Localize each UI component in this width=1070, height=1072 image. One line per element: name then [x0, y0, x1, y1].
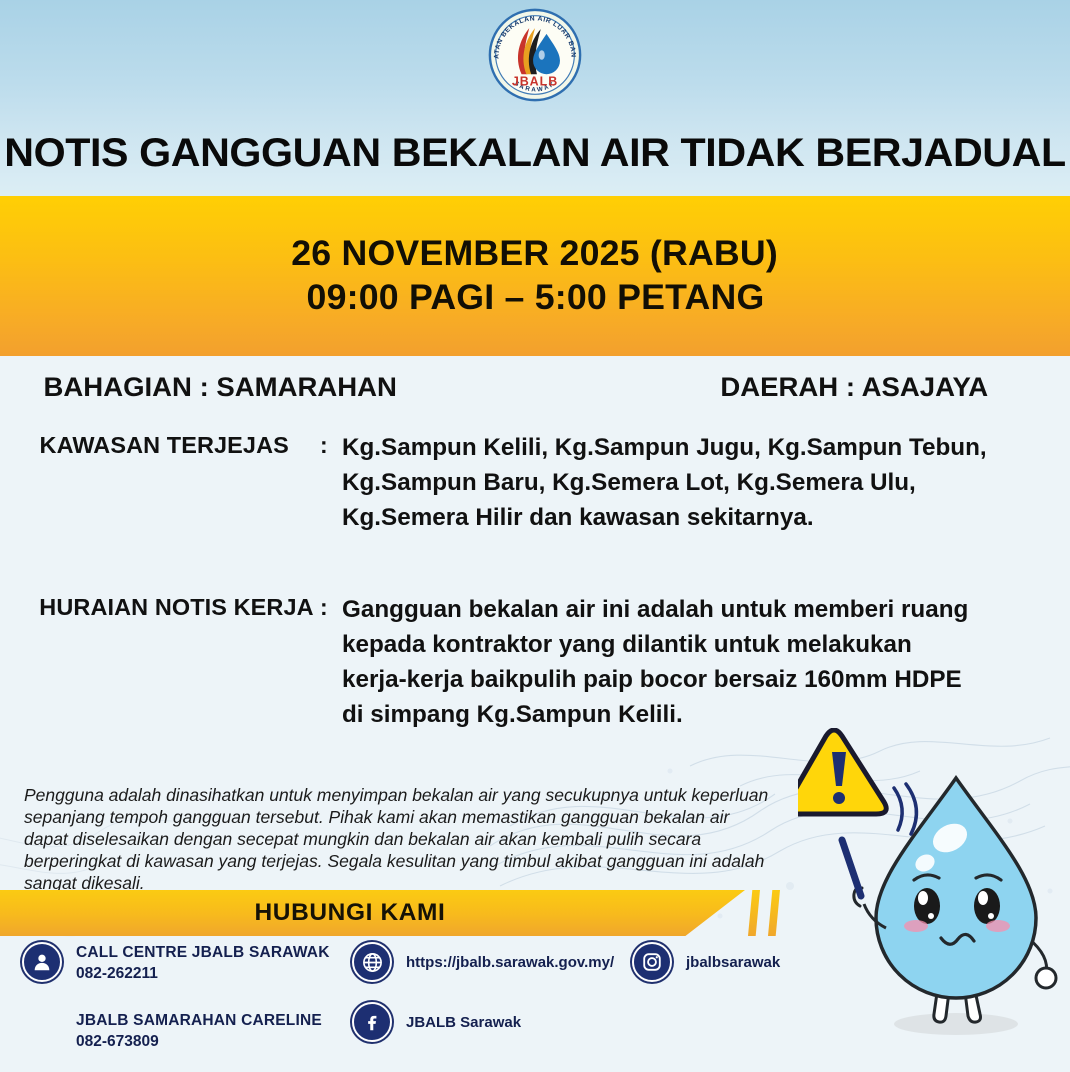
website-url[interactable]: https://jbalb.sarawak.gov.my/	[406, 944, 614, 971]
globe-icon	[352, 942, 392, 982]
page-title: NOTIS GANGGUAN BEKALAN AIR TIDAK BERJADU…	[0, 131, 1070, 176]
banner-slash-decoration	[768, 890, 780, 936]
contact-banner-label: HUBUNGI KAMI	[0, 890, 707, 936]
contact-name: CALL CENTRE JBALB SARAWAK	[76, 944, 330, 962]
instagram-icon	[632, 942, 672, 982]
field-value: Gangguan bekalan air ini adalah untuk me…	[342, 592, 1049, 732]
instagram-handle[interactable]: jbalbsarawak	[686, 944, 780, 971]
contact-careline[interactable]: JBALB SAMARAHAN CARELINE 082-673809	[22, 1010, 322, 1051]
contact-phone[interactable]: 082-262211	[76, 965, 330, 983]
contact-phone[interactable]: 082-673809	[76, 1033, 322, 1051]
field-value: Kg.Sampun Kelili, Kg.Sampun Jugu, Kg.Sam…	[342, 430, 1049, 535]
contact-text: JBALB SAMARAHAN CARELINE 082-673809	[76, 1010, 322, 1051]
jbalb-logo-icon: JABATAN BEKALAN AIR LUAR BANDAR SARAWAK …	[487, 7, 583, 103]
field-line: di simpang Kg.Sampun Kelili.	[342, 697, 1049, 732]
division-label: BAHAGIAN : SAMARAHAN	[44, 372, 397, 403]
contact-instagram[interactable]: jbalbsarawak	[632, 942, 780, 982]
contact-text: https://jbalb.sarawak.gov.my/	[406, 942, 614, 971]
banner-slash-decoration	[748, 890, 760, 936]
contact-banner: HUBUNGI KAMI	[0, 890, 770, 936]
date-time-banner: 26 NOVEMBER 2025 (RABU) 09:00 PAGI – 5:0…	[0, 196, 1070, 356]
facebook-icon	[352, 1002, 392, 1042]
field-colon: :	[320, 432, 328, 459]
facebook-handle[interactable]: JBALB Sarawak	[406, 1004, 521, 1031]
field-line: Kg.Sampun Baru, Kg.Semera Lot, Kg.Semera…	[342, 465, 1049, 500]
notice-date: 26 NOVEMBER 2025 (RABU)	[292, 234, 779, 274]
field-line: kepada kontraktor yang dilantik untuk me…	[342, 627, 1049, 662]
field-label: KAWASAN TERJEJAS	[40, 432, 289, 459]
field-line: Kg.Sampun Kelili, Kg.Sampun Jugu, Kg.Sam…	[342, 430, 1049, 465]
svg-text:JBALB: JBALB	[512, 75, 558, 89]
field-line: Gangguan bekalan air ini adalah untuk me…	[342, 592, 1049, 627]
contact-text: jbalbsarawak	[686, 942, 780, 971]
field-line: Kg.Semera Hilir dan kawasan sekitarnya.	[342, 500, 1049, 535]
contact-name: JBALB SAMARAHAN CARELINE	[76, 1012, 322, 1030]
notice-time: 09:00 PAGI – 5:00 PETANG	[306, 278, 764, 318]
water-disruption-notice-poster: JABATAN BEKALAN AIR LUAR BANDAR SARAWAK …	[0, 0, 1070, 1072]
field-label: HURAIAN NOTIS KERJA	[39, 594, 313, 621]
contacts-section: CALL CENTRE JBALB SARAWAK 082-262211 JBA…	[0, 942, 1070, 1072]
field-line: kerja-kerja baikpulih paip bocor bersaiz…	[342, 662, 1049, 697]
field-colon: :	[320, 594, 328, 621]
district-label: DAERAH : ASAJAYA	[721, 372, 989, 403]
contact-call-centre[interactable]: CALL CENTRE JBALB SARAWAK 082-262211	[22, 942, 330, 983]
jbalb-logo: JABATAN BEKALAN AIR LUAR BANDAR SARAWAK …	[487, 7, 583, 103]
poster-header: JABATAN BEKALAN AIR LUAR BANDAR SARAWAK …	[0, 0, 1070, 196]
contact-text: CALL CENTRE JBALB SARAWAK 082-262211	[76, 942, 330, 983]
contact-text: JBALB Sarawak	[406, 1002, 521, 1031]
contact-facebook[interactable]: JBALB Sarawak	[352, 1002, 521, 1042]
region-row: BAHAGIAN : SAMARAHAN DAERAH : ASAJAYA	[0, 372, 1070, 414]
disclaimer-text: Pengguna adalah dinasihatkan untuk menyi…	[24, 784, 769, 894]
contact-website[interactable]: https://jbalb.sarawak.gov.my/	[352, 942, 614, 982]
person-icon	[22, 942, 62, 982]
poster-body: BAHAGIAN : SAMARAHAN DAERAH : ASAJAYA KA…	[0, 356, 1070, 1072]
